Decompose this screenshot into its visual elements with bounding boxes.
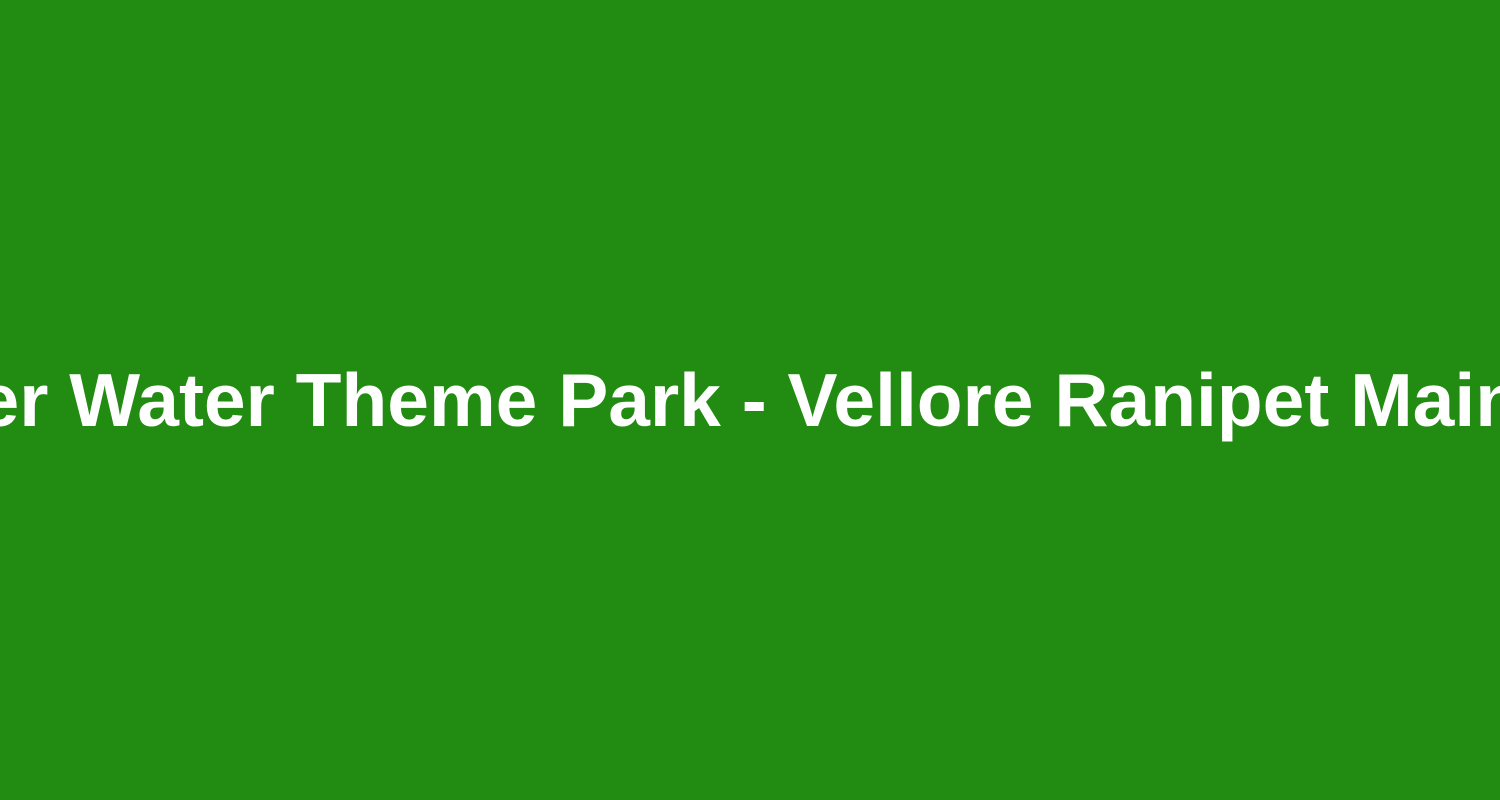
page-title: Wonder Water Theme Park - Vellore Ranipe… [0, 359, 1500, 442]
green-title-banner: Wonder Water Theme Park - Vellore Ranipe… [0, 0, 1500, 800]
